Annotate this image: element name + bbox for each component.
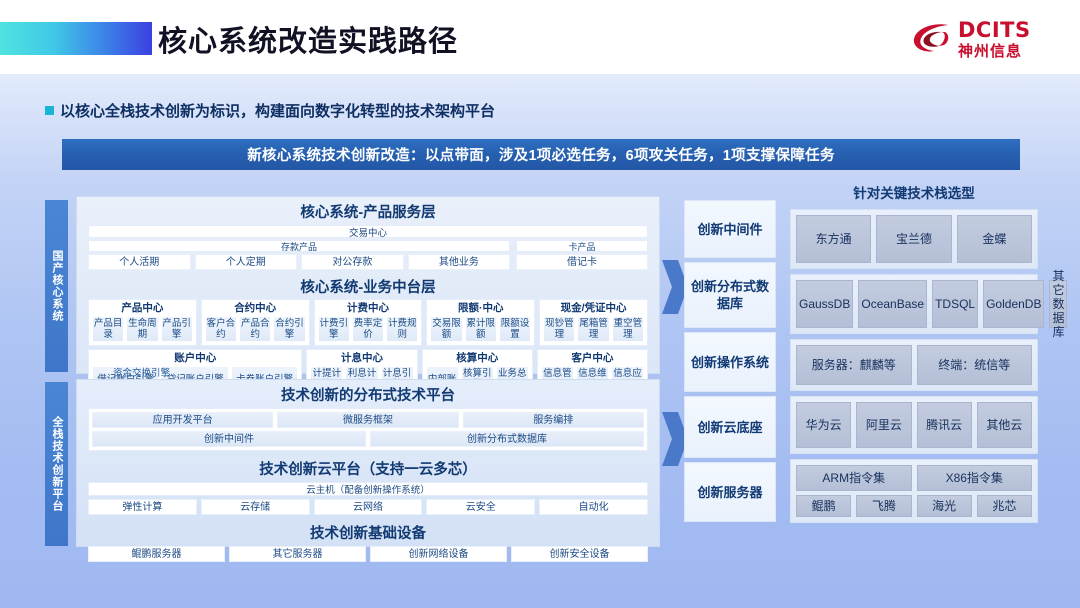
task-box-middleware[interactable]: 创新中间件 xyxy=(684,200,776,258)
list-item: 创新安全设备 xyxy=(511,546,648,562)
list-item: 鲲鹏服务器 xyxy=(88,546,225,562)
list-item: 生命周期 xyxy=(126,316,158,342)
deposit-product-group: 存款产品 个人活期 个人定期 对公存款 其他业务 xyxy=(88,240,510,270)
tech-stack-selection-panel: 针对关键技术栈选型 东方通 宝兰德 金蝶 GaussDB OceanBase T… xyxy=(790,182,1038,528)
list-item: 借记卡 xyxy=(516,254,648,270)
list-item: 自动化 xyxy=(539,499,648,515)
list-item: 微服务框架 xyxy=(277,412,458,428)
task-box-cloud-base[interactable]: 创新云底座 xyxy=(684,396,776,458)
vendor-chip[interactable]: 阿里云 xyxy=(856,402,911,448)
list-item: 对公存款 xyxy=(301,254,404,270)
fullstack-platform-panel: 技术创新的分布式技术平台 应用开发平台 微服务框架 服务编排 创新中间件 创新分… xyxy=(76,379,660,547)
dcits-swoosh-icon xyxy=(912,20,952,58)
list-item: 产品合约 xyxy=(239,316,271,342)
list-item: 创新中间件 xyxy=(92,431,366,447)
cloud-block: 华为云 阿里云 腾讯云 其他云 xyxy=(790,396,1038,454)
list-item: 尾箱管理 xyxy=(577,316,609,342)
cpu-chip[interactable]: 鲲鹏 xyxy=(796,495,851,517)
instruction-set-chip[interactable]: ARM指令集 xyxy=(796,465,912,491)
highlight-banner: 新核心系统技术创新改造：以点带面，涉及1项必选任务，6项攻关任务，1项支撑保障任… xyxy=(62,139,1020,170)
vertical-label-fullstack-platform: 全栈技术创新平台 xyxy=(45,382,68,546)
task-box-operating-system[interactable]: 创新操作系统 xyxy=(684,332,776,392)
vendor-chip[interactable]: 其他云 xyxy=(977,402,1032,448)
list-item: 服务编排 xyxy=(463,412,644,428)
list-item: 云安全 xyxy=(426,499,535,515)
vendor-chip[interactable]: TDSQL xyxy=(932,280,978,328)
list-item: 弹性计算 xyxy=(88,499,197,515)
vendor-chip[interactable]: 其它数据库 xyxy=(1049,280,1067,328)
list-item: 累计限额 xyxy=(465,316,497,342)
vendor-chip[interactable]: 东方通 xyxy=(796,215,871,263)
list-item: 云网络 xyxy=(314,499,423,515)
task-box-distributed-database[interactable]: 创新分布式数据库 xyxy=(684,262,776,328)
vendor-chip[interactable]: OceanBase xyxy=(858,280,927,328)
tech-stack-title: 针对关键技术栈选型 xyxy=(790,182,1038,202)
list-item: 合约引擎 xyxy=(273,316,305,342)
page-header: 核心系统改造实践路径 DCITS 神州信息 xyxy=(0,0,1080,74)
group-contract-center: 合约中心 客户合约 产品合约 合约引擎 xyxy=(201,299,310,346)
vendor-chip[interactable]: 宝兰德 xyxy=(876,215,951,263)
dcits-logo: DCITS 神州信息 xyxy=(912,16,1044,62)
list-item: 客户合约 xyxy=(205,316,237,342)
list-item: 个人活期 xyxy=(88,254,191,270)
core-system-panel: 核心系统-产品服务层 交易中心 存款产品 个人活期 个人定期 对公存款 其他业务… xyxy=(76,196,660,374)
database-block: GaussDB OceanBase TDSQL GoldenDB 其它数据库 xyxy=(790,274,1038,334)
vertical-label-domestic-core: 国产核心系统 xyxy=(45,200,68,372)
instruction-set-chip[interactable]: X86指令集 xyxy=(917,465,1033,491)
logo-text-cn: 神州信息 xyxy=(958,40,1022,61)
group-cash-voucher-center: 现金/凭证中心 现钞管理 尾箱管理 重空管理 xyxy=(539,299,648,346)
page-title: 核心系统改造实践路径 xyxy=(158,18,458,60)
group-limit-center: 限额·中心 交易限额 累计限额 限额设置 xyxy=(426,299,535,346)
list-item: 其他业务 xyxy=(408,254,511,270)
list-item: 交易限额 xyxy=(430,316,462,342)
vendor-chip[interactable]: GaussDB xyxy=(796,280,853,328)
logo-text-en: DCITS xyxy=(958,18,1031,42)
list-item: 现钞管理 xyxy=(543,316,575,342)
infra-title: 技术创新基础设备 xyxy=(77,522,659,543)
list-item: 计费引擎 xyxy=(318,316,350,342)
cloud-host-bar: 云主机（配备创新操作系统） xyxy=(88,482,648,496)
vendor-chip[interactable]: 华为云 xyxy=(796,402,851,448)
list-item: 云存储 xyxy=(201,499,310,515)
list-item: 应用开发平台 xyxy=(92,412,273,428)
list-item: 创新网络设备 xyxy=(370,546,507,562)
group-product-center: 产品中心 产品目录 生命周期 产品引擎 xyxy=(88,299,197,346)
list-item: 产品引擎 xyxy=(161,316,193,342)
account-center-overlay-label: 资金交换引擎 xyxy=(113,365,170,379)
dist-platform-box: 应用开发平台 微服务框架 服务编排 创新中间件 创新分布式数据库 xyxy=(88,408,648,451)
card-product-group: 卡产品 借记卡 xyxy=(516,240,648,270)
vendor-chip[interactable]: GoldenDB xyxy=(983,280,1044,328)
cpu-chip[interactable]: 海光 xyxy=(917,495,972,517)
trade-center-bar: 交易中心 xyxy=(88,225,648,238)
cpu-block: ARM指令集 X86指令集 鲲鹏 飞腾 海光 兆芯 xyxy=(790,459,1038,523)
cpu-chip[interactable]: 兆芯 xyxy=(977,495,1032,517)
dist-platform-title: 技术创新的分布式技术平台 xyxy=(77,384,659,405)
list-item: 个人定期 xyxy=(195,254,298,270)
cloud-platform-title: 技术创新云平台（支持一云多芯） xyxy=(77,458,659,479)
banner-text: 新核心系统技术创新改造：以点带面，涉及1项必选任务，6项攻关任务，1项支撑保障任… xyxy=(247,144,835,165)
list-item: 其它服务器 xyxy=(229,546,366,562)
vendor-chip[interactable]: 金蝶 xyxy=(957,215,1032,263)
task-box-server[interactable]: 创新服务器 xyxy=(684,462,776,522)
vendor-chip[interactable]: 终端：统信等 xyxy=(917,345,1033,385)
cpu-chip[interactable]: 飞腾 xyxy=(856,495,911,517)
product-layer-title: 核心系统-产品服务层 xyxy=(77,201,659,222)
os-block: 服务器：麒麟等 终端：统信等 xyxy=(790,339,1038,391)
section-subtitle: 以核心全栈技术创新为标识，构建面向数字化转型的技术架构平台 xyxy=(45,100,495,121)
bullet-square-icon xyxy=(45,106,54,115)
group-billing-center: 计费中心 计费引擎 费率定价 计费规则 xyxy=(314,299,423,346)
subtitle-text: 以核心全栈技术创新为标识，构建面向数字化转型的技术架构平台 xyxy=(60,100,495,121)
list-item: 费率定价 xyxy=(352,316,384,342)
middleware-block: 东方通 宝兰德 金蝶 xyxy=(790,209,1038,269)
list-item: 产品目录 xyxy=(92,316,124,342)
innovation-task-column: 创新中间件 创新分布式数据库 创新操作系统 创新云底座 创新服务器 xyxy=(684,200,776,526)
list-item: 限额设置 xyxy=(499,316,531,342)
list-item: 创新分布式数据库 xyxy=(370,431,644,447)
list-item: 计费规则 xyxy=(386,316,418,342)
vendor-chip[interactable]: 服务器：麒麟等 xyxy=(796,345,912,385)
business-layer-title: 核心系统-业务中台层 xyxy=(77,276,659,297)
architecture-left-stack: 国产核心系统 全栈技术创新平台 核心系统-产品服务层 交易中心 存款产品 个人活… xyxy=(45,196,660,551)
list-item: 重空管理 xyxy=(612,316,644,342)
vendor-chip[interactable]: 腾讯云 xyxy=(917,402,972,448)
header-accent-bar xyxy=(0,22,152,55)
